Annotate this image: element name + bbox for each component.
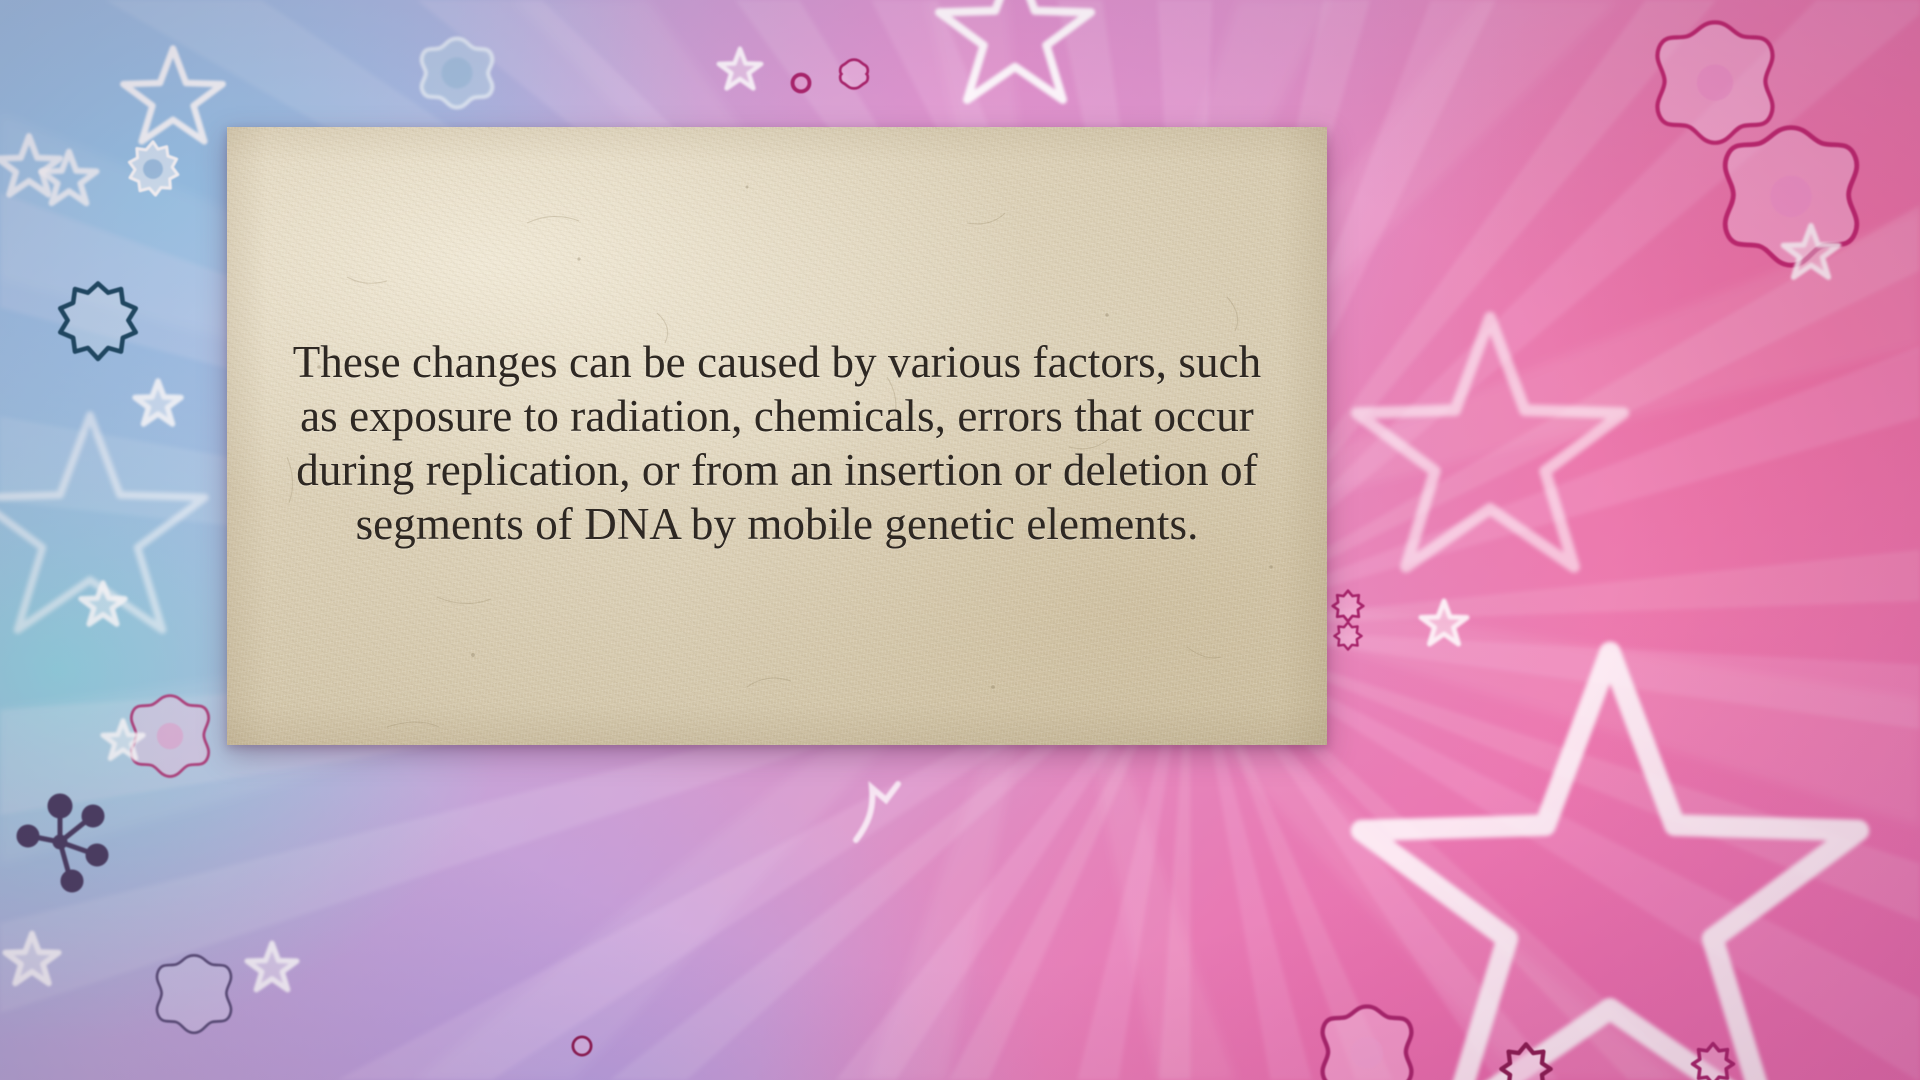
ring-small-top: [788, 70, 814, 96]
star-outline-bottom-left-2: [244, 940, 300, 994]
slide-stage: These changes can be caused by various f…: [0, 0, 1920, 1080]
star-outline-large-top: [118, 42, 228, 150]
card-text-line-1: These changes can be caused by various f…: [289, 335, 1265, 389]
card-text-line-4: segments of DNA by mobile genetic elemen…: [289, 497, 1265, 551]
star-outline-left-mid: [132, 378, 184, 428]
flower-outline-right-small: [1330, 588, 1366, 624]
flower-outline-icon: [1312, 1000, 1422, 1080]
flower-outline-icon: [1645, 14, 1785, 154]
star-outline-icon: [244, 940, 300, 994]
flower-outline-icon: [1688, 1040, 1738, 1080]
flower-outline-bottomright-small: [1688, 1040, 1738, 1080]
flower-outline-bottom-center: [1496, 1040, 1556, 1080]
molecule-bottom-left: [14, 792, 118, 892]
card-text-line-2: as exposure to radiation, chemicals, err…: [289, 389, 1265, 443]
star-outline-bottom-left-3: [100, 718, 146, 762]
star-outline-icon: [1418, 598, 1470, 648]
flower-bottom-left: [122, 690, 218, 784]
star-outline-icon: [2, 930, 62, 988]
molecule-icon: [14, 792, 118, 892]
flower-outline-icon: [1496, 1040, 1556, 1080]
star-outline-right-mid: [1340, 300, 1640, 590]
flower-outline-icon: [50, 278, 146, 370]
circle-outline-icon: [788, 70, 814, 96]
star-outline-icon: [930, 0, 1100, 113]
star-outline-icon: [716, 46, 764, 92]
card-text-block: These changes can be caused by various f…: [227, 335, 1327, 551]
flower-outline-icon: [1330, 588, 1366, 624]
flower-outline-icon: [148, 950, 240, 1040]
flower-bottom-left-2: [148, 950, 240, 1040]
star-outline-left-lower: [78, 580, 128, 628]
star-outline-icon: [1340, 300, 1640, 590]
star-outline-bottom-left: [2, 930, 62, 988]
sparkle-icon: [846, 780, 906, 850]
star-outline-right-far: [1780, 222, 1842, 282]
circle-outline-icon: [568, 1032, 596, 1060]
gear-flower-topleft: [122, 138, 184, 200]
star-outline-top-center: [716, 46, 764, 92]
quatrefoil-outline-icon: [836, 56, 872, 92]
star-outline-topleft-2: [38, 148, 100, 208]
star-outline-small-topleft: [0, 132, 64, 200]
flower-pink-topright: [1645, 14, 1785, 154]
flower-outline-right-small-2: [1332, 620, 1364, 652]
flower-pink-topright-2: [1710, 118, 1872, 278]
star-outline-icon: [1330, 620, 1890, 1080]
flower-outline-icon: [416, 32, 498, 114]
flower-outline-icon: [1710, 118, 1872, 278]
quatrefoil-top: [836, 56, 872, 92]
star-outline-icon: [78, 580, 128, 628]
flower-outline-topleft: [416, 32, 498, 114]
star-outline-left-big: [0, 400, 220, 650]
ring-bottom-center: [568, 1032, 596, 1060]
star-outline-right-small: [1418, 598, 1470, 648]
squiggle-bottom-center: [846, 780, 906, 850]
flower-outline-icon: [122, 690, 218, 784]
flower-outline-icon: [122, 138, 184, 200]
card-text-line-3: during replication, or from an insertion…: [289, 443, 1265, 497]
flower-pink-bottom-right: [1312, 1000, 1422, 1080]
star-outline-icon: [0, 132, 64, 200]
flower-outline-navy-left: [50, 278, 146, 370]
paper-card: These changes can be caused by various f…: [227, 127, 1327, 745]
star-outline-icon: [38, 148, 100, 208]
star-outline-icon: [0, 400, 220, 650]
star-outline-icon: [100, 718, 146, 762]
star-outline-icon: [1780, 222, 1842, 282]
star-outline-icon: [132, 378, 184, 428]
star-outline-icon: [118, 42, 228, 150]
star-outline-bottom-right-huge: [1330, 620, 1890, 1080]
flower-outline-icon: [1332, 620, 1364, 652]
star-outline-top-right-large: [930, 0, 1100, 113]
